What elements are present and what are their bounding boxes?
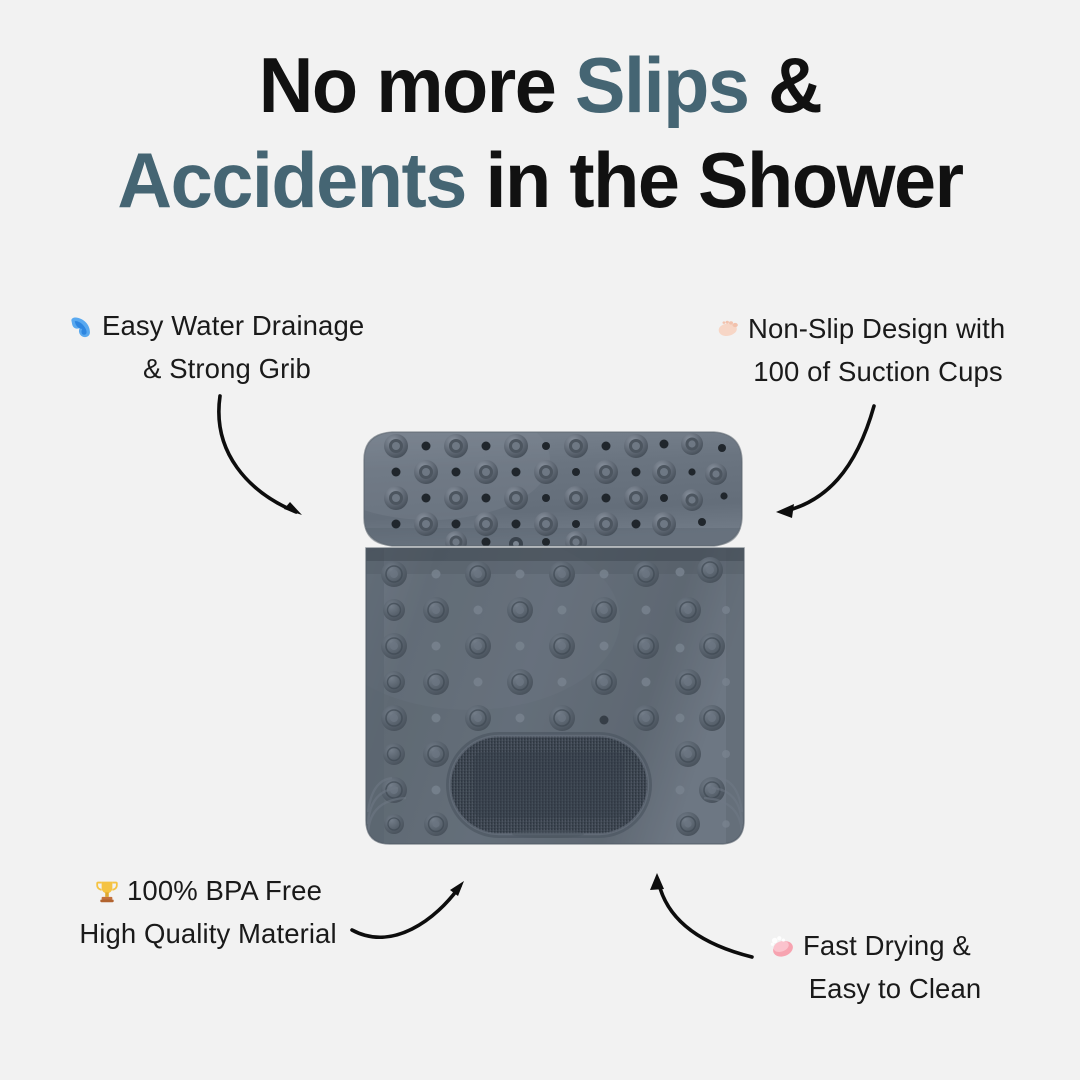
headline-accent-slips: Slips — [575, 41, 749, 129]
arrowhead-top-left — [284, 502, 302, 515]
foot-icon — [716, 318, 741, 342]
arrow-top-right — [782, 406, 874, 512]
headline-text-ampersand: & — [749, 41, 822, 129]
arrow-top-left — [219, 396, 296, 512]
callout-text: Non-Slip Design with — [748, 313, 1005, 344]
callout-text: Easy Water Drainage — [102, 310, 364, 341]
callout-line-2: & Strong Grib — [62, 348, 392, 391]
bristle-scrubber-pad — [446, 732, 652, 838]
mat-body — [350, 530, 744, 848]
callout-text: 100% BPA Free — [127, 875, 322, 906]
arrowhead-top-right — [776, 504, 794, 518]
callout-line-1: Non-Slip Design with — [708, 308, 1048, 351]
mat-flap-underside — [350, 420, 742, 553]
arrow-bottom-right — [658, 880, 752, 957]
callout-line-1: Fast Drying & — [770, 925, 1020, 968]
wave-icon — [68, 317, 95, 339]
product-image-shower-mat — [350, 420, 760, 865]
page-title: No more Slips & Accidents in the Shower — [16, 38, 1064, 228]
headline-line-1: No more Slips & — [16, 38, 1064, 133]
callout-fast-drying: Fast Drying & Easy to Clean — [770, 925, 1020, 1010]
arrowhead-bottom-right — [650, 873, 664, 890]
callout-text: Fast Drying & — [803, 930, 971, 961]
callout-line-2: High Quality Material — [48, 913, 368, 956]
headline-line-2: Accidents in the Shower — [16, 133, 1064, 228]
headline-text-in-the-shower: in the Shower — [466, 136, 963, 224]
arrow-bottom-left — [352, 886, 460, 937]
headline-text-no-more: No more — [259, 41, 575, 129]
infographic-canvas: No more Slips & Accidents in the Shower — [0, 0, 1080, 1080]
callout-line-2: Easy to Clean — [770, 968, 1020, 1011]
soap-icon — [770, 935, 796, 959]
callout-bpa-free-material: 100% BPA Free High Quality Material — [48, 870, 368, 955]
arrowhead-bottom-left — [450, 881, 464, 896]
callout-easy-water-drainage: Easy Water Drainage & Strong Grib — [62, 305, 392, 390]
callout-non-slip-design: Non-Slip Design with 100 of Suction Cups — [708, 308, 1048, 393]
callout-line-1: 100% BPA Free — [48, 870, 368, 913]
headline-accent-accidents: Accidents — [117, 136, 466, 224]
callout-line-1: Easy Water Drainage — [62, 305, 392, 348]
trophy-icon — [94, 879, 120, 904]
callout-line-2: 100 of Suction Cups — [708, 351, 1048, 394]
